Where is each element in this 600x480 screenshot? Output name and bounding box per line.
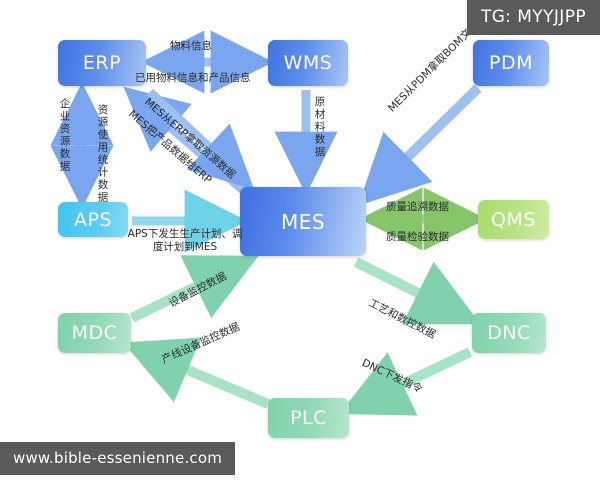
node-mes[interactable]: MES [240,187,366,256]
node-plc-label: PLC [290,407,327,429]
edge-label-mes-qms-bottom: 质量检验数据 [386,231,449,244]
edge-label-erp-wms-bottom: 已用物料信息和产品信息 [135,72,251,85]
node-qms-label: QMS [491,209,536,231]
arrow-plc-mdc [136,348,268,404]
node-wms-label: WMS [284,52,333,74]
node-pdm[interactable]: PDM [473,40,549,86]
node-plc[interactable]: PLC [268,398,349,438]
edge-label-erp-wms-top: 物料信息 [170,40,212,53]
node-qms[interactable]: QMS [478,200,549,239]
diagram-canvas: ERP WMS PDM APS MES QMS MDC DNC PLC 物料信息… [0,0,600,480]
edge-label-erp-aps-right: 资源使用统计数据 [96,104,108,192]
edge-label-wms-mes: 原材料数据 [313,96,325,176]
node-erp[interactable]: ERP [58,40,146,86]
node-mdc[interactable]: MDC [58,313,131,353]
node-aps-label: APS [74,209,112,231]
node-wms[interactable]: WMS [268,40,348,86]
edge-label-erp-aps-left: 企业资源数据 [58,98,70,186]
edge-label-aps-mes: APS下发生生产计划、调度计划到MES [126,228,244,254]
node-dnc[interactable]: DNC [472,313,546,353]
arrow-pdm-mes [368,88,478,196]
node-aps[interactable]: APS [58,202,128,237]
node-dnc-label: DNC [487,322,531,344]
node-mes-label: MES [281,210,325,234]
edge-label-mes-qms-top: 质量追溯数据 [386,201,449,214]
tg-badge: TG: MYYJJPP [467,0,600,35]
node-pdm-label: PDM [489,52,533,74]
node-mdc-label: MDC [72,322,118,344]
node-erp-label: ERP [83,52,121,74]
watermark: www.bible-essenienne.com [0,442,235,475]
